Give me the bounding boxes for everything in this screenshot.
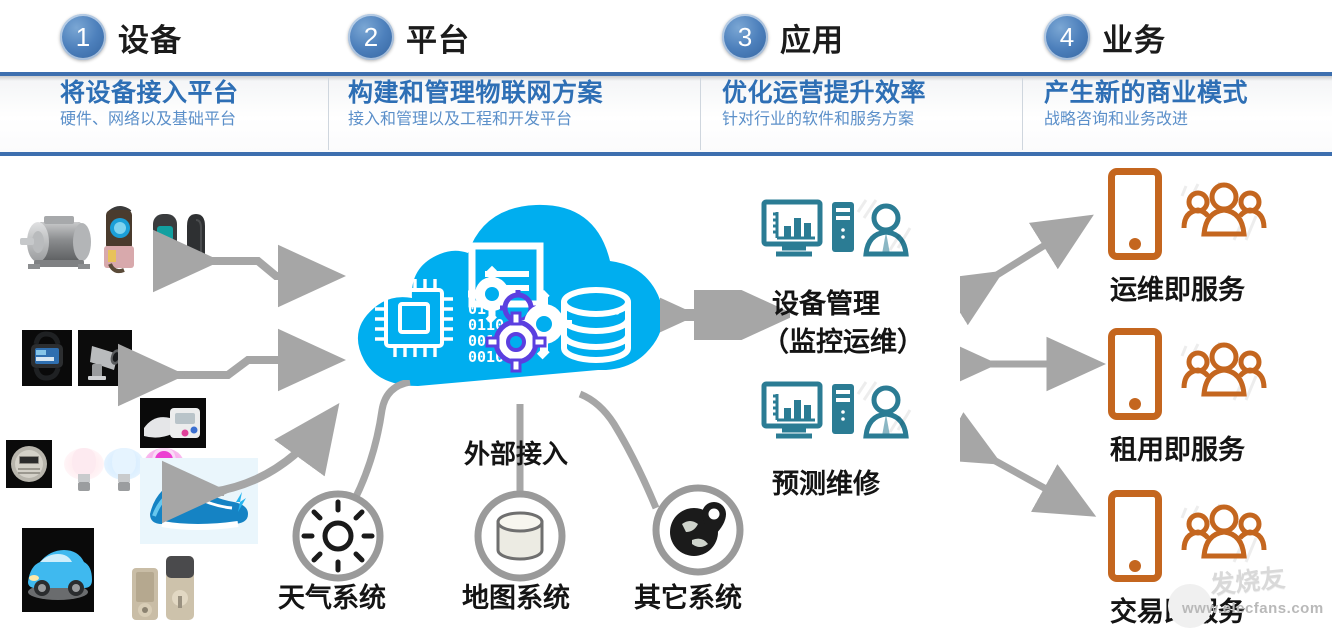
phase-1-main-text: 将设备接入平台 (60, 80, 239, 106)
application-predictive-maintenance-label: 预测维修 (772, 462, 880, 501)
phase-4-title: 业务 (1102, 15, 1166, 60)
phase-4-sub-text: 战略咨询和业务改进 (1044, 110, 1248, 128)
watermark-text: 发烧友 (1208, 558, 1286, 602)
header-divider-1 (328, 78, 329, 150)
phase-2-sub-text: 接入和管理以及工程和开发平台 (348, 110, 603, 128)
server-tower-icon (832, 384, 854, 434)
application-business-arrows (960, 190, 1130, 530)
phone-icon (1108, 328, 1162, 420)
cloud-platform[interactable]: 01 0110 0010 001001 (340, 178, 670, 408)
phase-1-number-badge: 1 (60, 14, 106, 60)
phase-3-body: 优化运营提升效率 针对行业的软件和服务方案 (722, 80, 926, 128)
business-ops-as-a-service-label: 运维即服务 (1110, 268, 1245, 307)
phase-1-device[interactable]: 1 设备 将设备接入平台 硬件、网络以及基础平台 (60, 0, 328, 152)
external-system-other-label: 其它系统 (634, 576, 742, 615)
people-group-icon (1180, 182, 1268, 246)
application-device-management-label-2: （监控运维） (762, 320, 924, 359)
header-rule-bottom (0, 152, 1332, 156)
phase-1-heading: 1 设备 (60, 14, 182, 60)
phase-4-body: 产生新的商业模式 战略咨询和业务改进 (1044, 80, 1248, 128)
phase-3-heading: 3 应用 (722, 14, 844, 60)
database-cylinder-icon (498, 513, 542, 559)
external-access-caption: 外部接入 (464, 434, 568, 471)
phase-4-heading: 4 业务 (1044, 14, 1166, 60)
monitor-icon (764, 384, 820, 436)
watermark-url: www.elecfans.com (1182, 600, 1324, 617)
external-system-map-label: 地图系统 (462, 576, 570, 615)
phone-icon (1108, 490, 1162, 582)
application-device-management-label-1: 设备管理 (772, 282, 880, 321)
phase-2-title: 平台 (406, 15, 470, 60)
phase-4-number-badge: 4 (1044, 14, 1090, 60)
phase-3-number-badge: 3 (722, 14, 768, 60)
application-device-management[interactable] (760, 198, 920, 275)
phase-2-body: 构建和管理物联网方案 接入和管理以及工程和开发平台 (348, 80, 603, 128)
bar-chart-glyph (784, 218, 811, 238)
diagram-canvas: 1 设备 将设备接入平台 硬件、网络以及基础平台 2 平台 构建和管理物联网方案… (0, 0, 1332, 636)
server-tower-icon (832, 202, 854, 252)
phase-1-sub-text: 硬件、网络以及基础平台 (60, 110, 239, 128)
site-watermark: 发烧友 www.elecfans.com (1168, 556, 1332, 630)
header-divider-3 (1022, 78, 1023, 150)
bar-chart-glyph (784, 400, 811, 420)
monitor-icon (764, 202, 820, 254)
application-predictive-maintenance[interactable] (760, 380, 920, 457)
header-divider-2 (700, 78, 701, 150)
phase-1-body: 将设备接入平台 硬件、网络以及基础平台 (60, 80, 239, 128)
external-system-other[interactable] (648, 480, 748, 585)
phase-1-title: 设备 (118, 15, 182, 60)
external-system-weather-label: 天气系统 (278, 576, 386, 615)
phone-icon (1108, 168, 1162, 260)
phase-2-number-badge: 2 (348, 14, 394, 60)
phase-2-heading: 2 平台 (348, 14, 470, 60)
phase-3-title: 应用 (780, 15, 844, 60)
phase-3-sub-text: 针对行业的软件和服务方案 (722, 110, 926, 128)
phase-2-platform[interactable]: 2 平台 构建和管理物联网方案 接入和管理以及工程和开发平台 (348, 0, 700, 152)
people-group-icon (1180, 342, 1268, 406)
business-rental-as-a-service-label: 租用即服务 (1110, 428, 1245, 467)
phase-3-main-text: 优化运营提升效率 (722, 80, 926, 106)
phase-3-application[interactable]: 3 应用 优化运营提升效率 针对行业的软件和服务方案 (722, 0, 1022, 152)
phase-2-main-text: 构建和管理物联网方案 (348, 80, 603, 106)
phase-4-business[interactable]: 4 业务 产生新的商业模式 战略咨询和业务改进 (1044, 0, 1332, 152)
phase-4-main-text: 产生新的商业模式 (1044, 80, 1248, 106)
